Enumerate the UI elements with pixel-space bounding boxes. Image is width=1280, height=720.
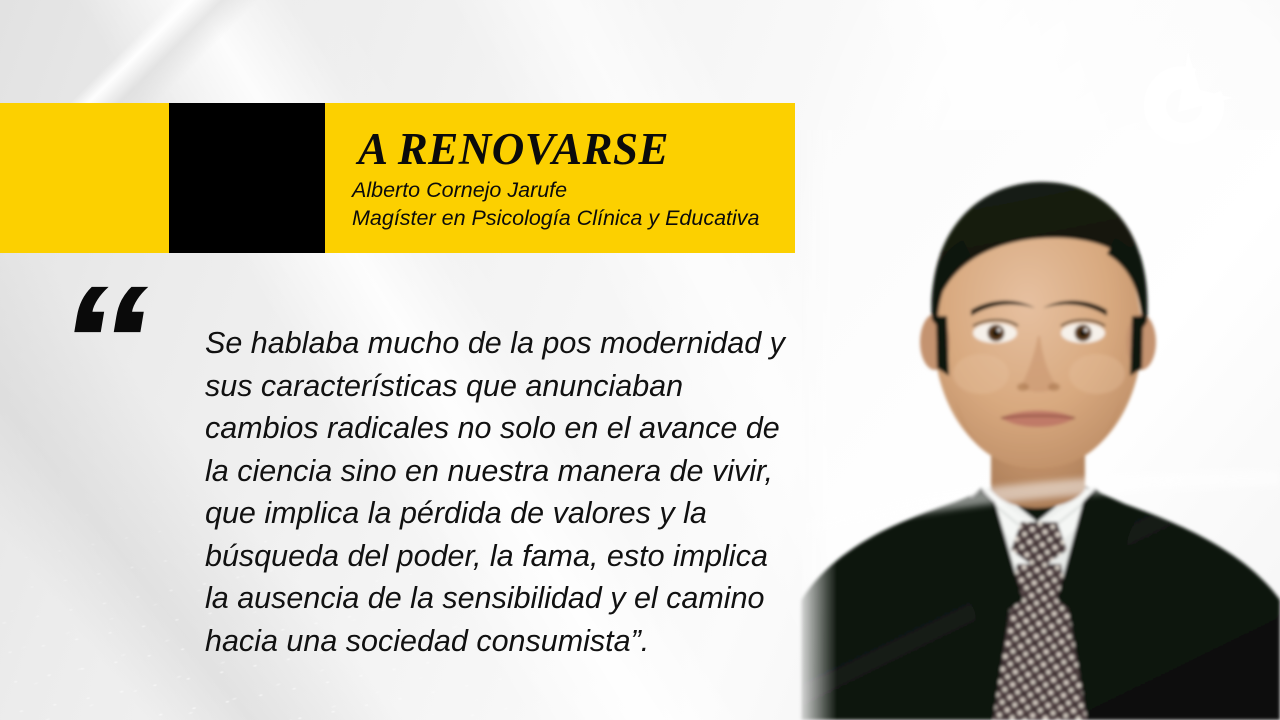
author-name: Alberto Cornejo Jarufe — [352, 176, 795, 204]
promo-quote-card: A RENOVARSE Alberto Cornejo Jarufe Magís… — [0, 0, 1280, 720]
author-credential: Magíster en Psicología Clínica y Educati… — [352, 204, 795, 232]
circular-arrow-logo — [1134, 50, 1234, 146]
quote-text: Se hablaba mucho de la pos modernidad y … — [205, 322, 805, 662]
page-title: A RENOVARSE — [358, 127, 795, 173]
header-text-group: A RENOVARSE Alberto Cornejo Jarufe Magís… — [340, 103, 795, 253]
portrait-photo — [795, 130, 1280, 720]
header-black-block — [169, 103, 325, 253]
